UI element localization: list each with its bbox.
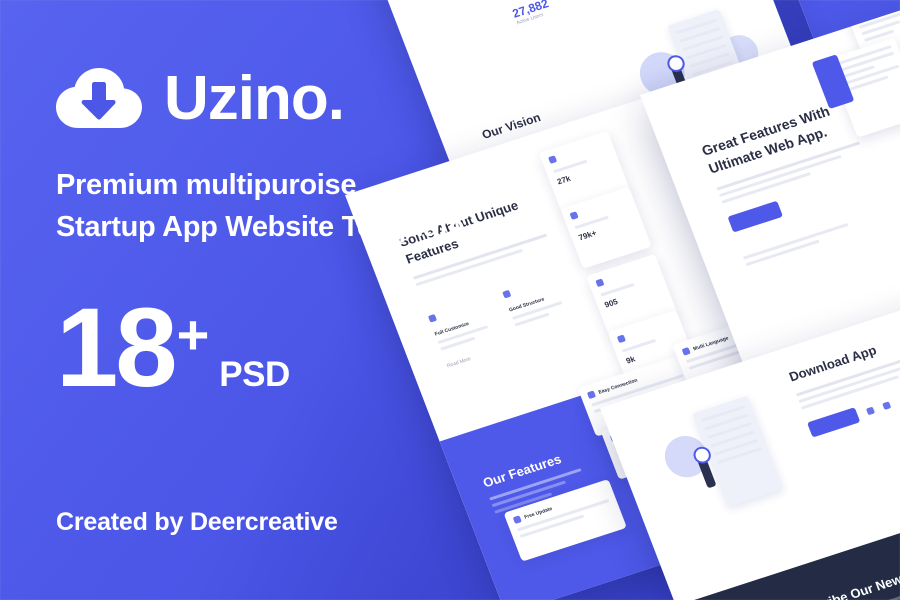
download-now-button[interactable] bbox=[807, 407, 860, 437]
brand-name: Uzino. bbox=[164, 68, 344, 130]
stat-card-value: 27k bbox=[556, 160, 614, 186]
title-panel: Uzino. Premium multipuroise Startup App … bbox=[0, 0, 470, 600]
psd-count: 18 + PSD bbox=[56, 296, 290, 399]
get-started-button[interactable] bbox=[727, 200, 783, 232]
sub-item: Good Structure bbox=[500, 270, 565, 326]
poster-canvas: Our Features Easy Connection bbox=[0, 0, 900, 600]
cloud-download-icon bbox=[56, 68, 142, 130]
count-plus: + bbox=[177, 307, 210, 363]
brand-lockup: Uzino. bbox=[56, 68, 344, 130]
stat-item: 27,882 Active Users bbox=[510, 0, 552, 26]
tagline-line-1: Premium multipuroise bbox=[56, 164, 476, 206]
stat-card-value: 905 bbox=[603, 283, 661, 309]
tagline: Premium multipuroise Startup App Website… bbox=[56, 164, 476, 248]
tagline-line-2: Startup App Website Template bbox=[56, 206, 476, 248]
count-format: PSD bbox=[219, 355, 289, 395]
count-number: 18 bbox=[56, 296, 175, 399]
credit-line: Created by Deercreative bbox=[56, 508, 338, 537]
stat-card-value: 79k+ bbox=[577, 216, 635, 242]
